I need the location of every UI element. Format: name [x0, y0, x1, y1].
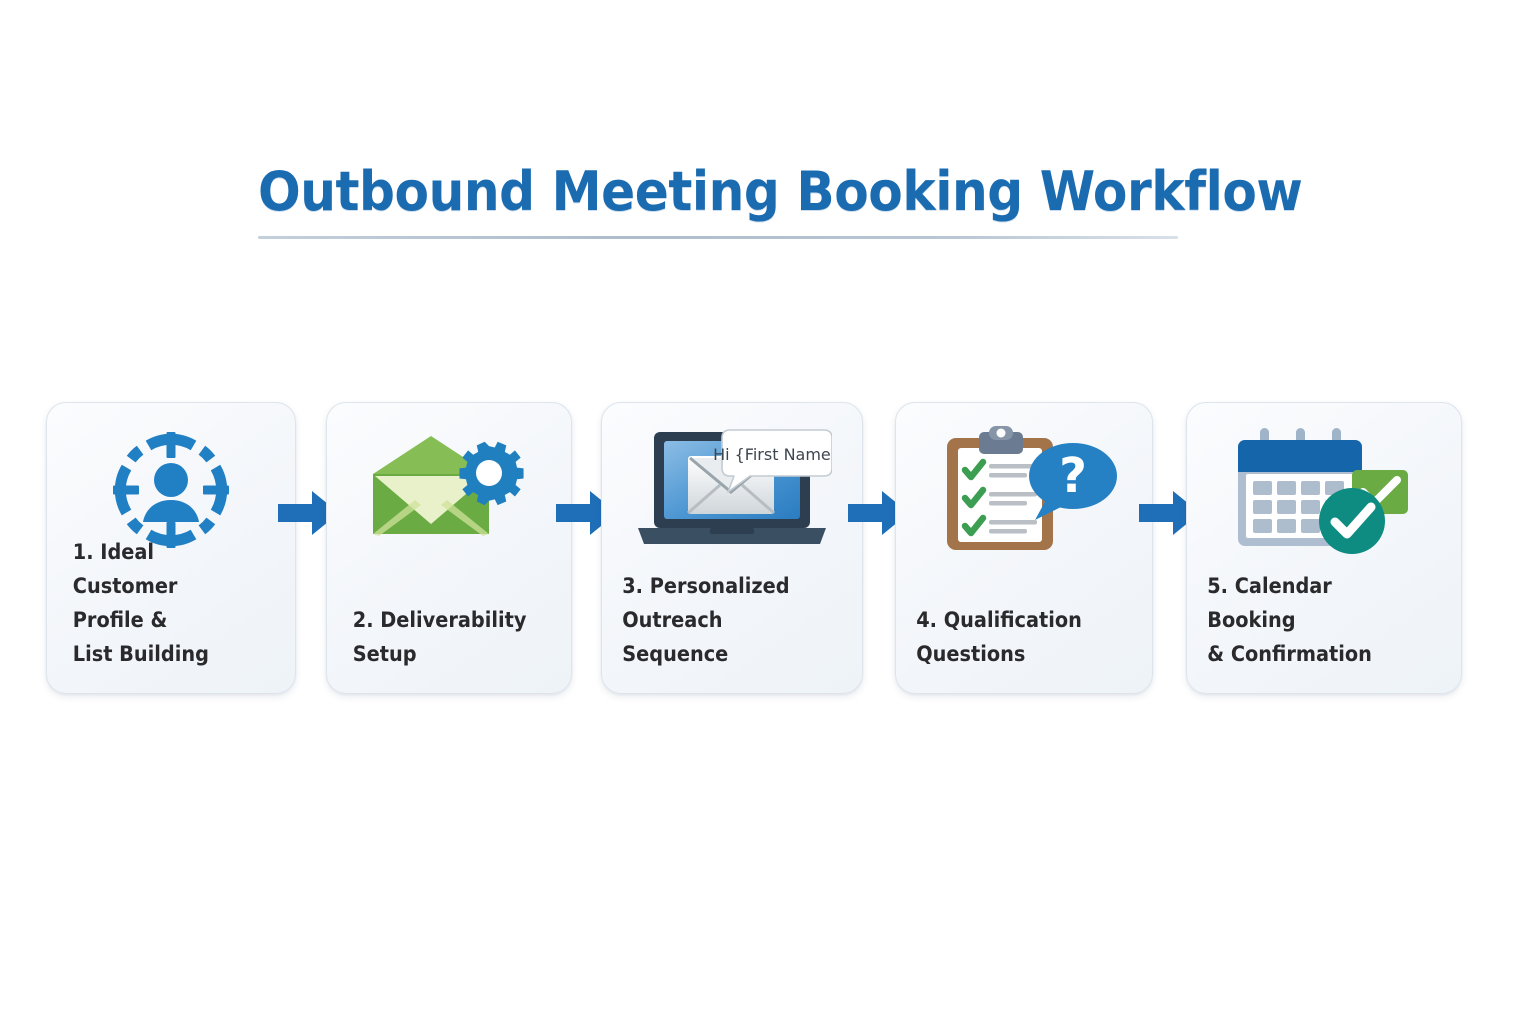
step-card-5[interactable]: 5. Calendar Booking & Confirmation [1186, 402, 1462, 694]
step-card-3-label: 3. Personalized Outreach Sequence [602, 569, 841, 671]
envelope-gear-icon [327, 425, 571, 555]
step-card-2[interactable]: 2. Deliverability Setup [326, 402, 572, 694]
calendar-confirmation-icon [1187, 425, 1461, 555]
question-mark-glyph: ? [1059, 448, 1087, 504]
clipboard-checklist-question-icon: ? [896, 425, 1152, 555]
laptop-email-icon: Hi {First Name} [602, 425, 862, 555]
page-title: Outbound Meeting Booking Workflow [258, 160, 1114, 224]
step-card-1-label: 1. Ideal Customer Profile & List Buildin… [47, 535, 275, 671]
personalization-bubble-text: Hi {First Name} [713, 445, 832, 464]
workflow-flow-row: 1. Ideal Customer Profile & List Buildin… [0, 402, 1536, 694]
step-card-4-label: 4. Qualification Questions [896, 603, 1132, 671]
step-card-5-label: 5. Calendar Booking & Confirmation [1187, 569, 1439, 671]
step-card-4[interactable]: ? 4. Qualification Questions [895, 402, 1153, 694]
step-card-2-label: 2. Deliverability Setup [327, 603, 551, 671]
title-underline-rule [258, 236, 1178, 239]
step-card-3[interactable]: Hi {First Name} 3. Personalized Outreach… [601, 402, 863, 694]
title-block: Outbound Meeting Booking Workflow [258, 160, 1178, 239]
step-card-1[interactable]: 1. Ideal Customer Profile & List Buildin… [46, 402, 296, 694]
